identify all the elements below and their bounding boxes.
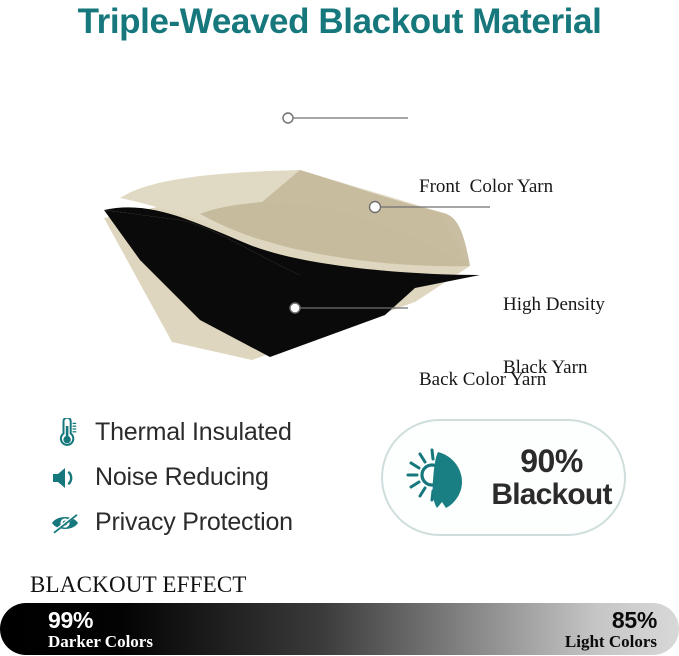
speaker-sound-icon bbox=[46, 461, 86, 495]
label-front-color-yarn: Front Color Yarn bbox=[419, 176, 553, 197]
blackout-effect-heading: BLACKOUT EFFECT bbox=[30, 572, 247, 598]
feature-label-privacy-protection: Privacy Protection bbox=[95, 508, 293, 537]
badge-percent: 90% bbox=[487, 445, 616, 478]
callout-dot-icon-front bbox=[283, 113, 293, 123]
eye-slash-icon bbox=[46, 506, 86, 540]
callout-dot-icon-back bbox=[290, 303, 300, 313]
feature-item-privacy-protection: Privacy Protection bbox=[46, 500, 376, 545]
feature-label-thermal-insulated: Thermal Insulated bbox=[95, 418, 292, 447]
sun-blocked-by-curtain-icon bbox=[383, 442, 487, 514]
page-title: Triple-Weaved Blackout Material bbox=[0, 2, 679, 42]
gradient-bar-left-stat: 99% Darker Colors bbox=[48, 608, 153, 652]
feature-item-thermal-insulated: Thermal Insulated bbox=[46, 410, 376, 455]
fabric-diagram: Front Color Yarn High Density Black Yarn… bbox=[0, 70, 679, 360]
badge-text: 90% Blackout bbox=[487, 445, 624, 509]
darker-colors-label: Darker Colors bbox=[48, 632, 153, 652]
light-colors-percent: 85% bbox=[565, 608, 657, 632]
light-colors-label: Light Colors bbox=[565, 632, 657, 652]
label-high-density-line1: High Density bbox=[503, 294, 605, 315]
feature-item-noise-reducing: Noise Reducing bbox=[46, 455, 376, 500]
thermometer-icon bbox=[46, 416, 86, 450]
blackout-badge: 90% Blackout bbox=[381, 419, 626, 536]
darker-colors-percent: 99% bbox=[48, 608, 153, 632]
feature-label-noise-reducing: Noise Reducing bbox=[95, 463, 269, 492]
label-high-density-black-yarn: High Density Black Yarn bbox=[503, 251, 605, 421]
badge-word: Blackout bbox=[487, 479, 616, 510]
callout-dot-icon-middle bbox=[370, 202, 381, 213]
feature-list: Thermal Insulated Noise Reducing Privacy… bbox=[46, 410, 376, 545]
label-back-color-yarn: Back Color Yarn bbox=[419, 369, 546, 390]
gradient-bar-right-stat: 85% Light Colors bbox=[565, 608, 657, 652]
